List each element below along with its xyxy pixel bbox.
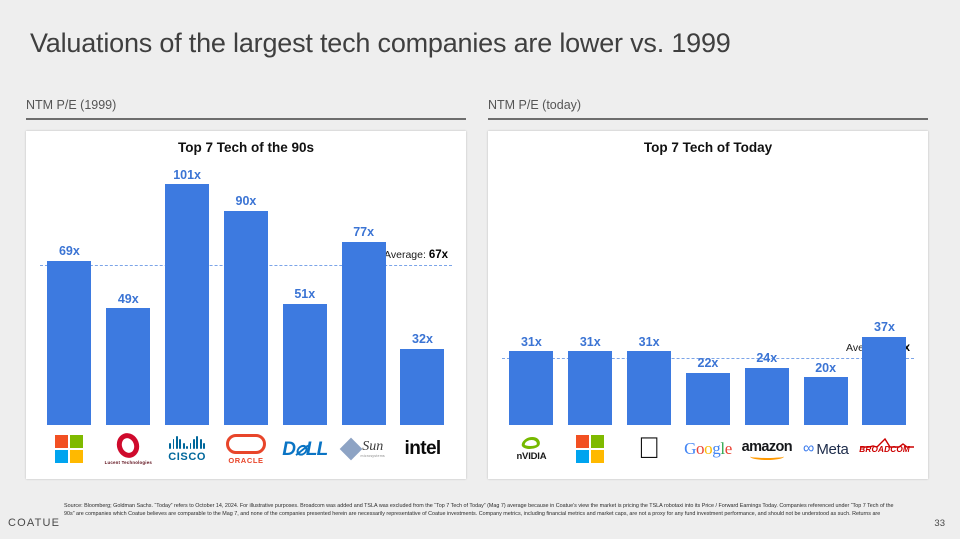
bar[interactable] xyxy=(686,373,730,425)
bar-value-label: 22x xyxy=(698,357,719,370)
bar[interactable] xyxy=(224,211,268,425)
nvidia-wordmark: nVIDIA xyxy=(516,451,546,462)
bar[interactable] xyxy=(804,377,848,425)
bar-value-label: 31x xyxy=(639,336,660,349)
coatue-brand: COATUE xyxy=(8,517,60,529)
google-letter: G xyxy=(684,439,696,458)
logo-strip-today: nVIDIA  Google xyxy=(502,427,914,471)
bar-value-label: 49x xyxy=(118,293,139,306)
bar[interactable] xyxy=(106,308,150,425)
bar-group-1999: 69x 49x 101x 90x xyxy=(40,163,452,425)
bar-slot-amazon[interactable]: 24x xyxy=(745,163,789,425)
bar[interactable] xyxy=(745,368,789,425)
bar-value-label: 31x xyxy=(580,336,601,349)
sun-subtext: microsystems xyxy=(361,454,385,458)
plot-area-today: Average: 28x 31x 31x 31x xyxy=(502,163,914,425)
amazon-logo: amazon xyxy=(737,429,796,469)
meta-logo: ∞ Meta xyxy=(796,429,855,469)
lucent-ring-icon xyxy=(114,430,143,461)
lucent-logo: Lucent Technologies xyxy=(99,429,158,469)
cisco-wordmark: CISCO xyxy=(168,451,206,463)
lucent-wordmark: Lucent Technologies xyxy=(105,460,152,465)
bar-slot-broadcom[interactable]: 37x xyxy=(862,163,906,425)
meta-wordmark: Meta xyxy=(816,441,848,458)
oracle-logo: ORACLE xyxy=(217,429,276,469)
chart-title-1999: Top 7 Tech of the 90s xyxy=(26,140,466,155)
bar-value-label: 31x xyxy=(521,336,542,349)
sun-diamond-icon xyxy=(339,438,362,461)
oracle-ring-icon xyxy=(226,434,266,454)
bar[interactable] xyxy=(342,242,386,425)
bar[interactable] xyxy=(47,261,91,425)
bar[interactable] xyxy=(862,337,906,425)
bar-value-label: 101x xyxy=(173,169,201,182)
intel-logo: intel xyxy=(393,429,452,469)
cisco-logo: CISCO xyxy=(158,429,217,469)
cisco-bridge-icon xyxy=(169,436,205,449)
google-logo: Google xyxy=(679,429,738,469)
footnote: Source: Bloomberg; Goldman Sachs. “Today… xyxy=(64,502,894,519)
page-title: Valuations of the largest tech companies… xyxy=(30,28,731,59)
amazon-smile-icon xyxy=(750,453,784,460)
bar[interactable] xyxy=(568,351,612,425)
panel-label-today: NTM P/E (today) xyxy=(488,98,928,118)
bar-slot-microsoft[interactable]: 69x xyxy=(47,163,91,425)
sun-logo: Sun microsystems xyxy=(334,429,393,469)
bar-value-label: 51x xyxy=(294,288,315,301)
bar-value-label: 20x xyxy=(815,362,836,375)
bar-slot-cisco[interactable]: 101x xyxy=(165,163,209,425)
bar-value-label: 90x xyxy=(236,195,257,208)
sun-wordmark: Sun xyxy=(362,440,383,454)
google-letter: e xyxy=(725,439,732,458)
bar[interactable] xyxy=(400,349,444,425)
oracle-wordmark: ORACLE xyxy=(228,456,263,465)
nvidia-eye-icon xyxy=(521,437,542,449)
bar[interactable] xyxy=(509,351,553,425)
apple-logo:  xyxy=(620,429,679,469)
bar-value-label: 32x xyxy=(412,333,433,346)
panel-today: NTM P/E (today) Top 7 Tech of Today Aver… xyxy=(488,98,928,479)
meta-infinity-icon: ∞ xyxy=(803,441,814,457)
dell-logo: D⌀LL xyxy=(275,429,334,469)
chart-card-1999: Top 7 Tech of the 90s Average: 67x 69x 4… xyxy=(26,131,466,479)
apple-glyph-icon:  xyxy=(638,434,661,464)
page-number: 33 xyxy=(934,518,945,529)
bar[interactable] xyxy=(165,184,209,425)
bar-slot-nvidia[interactable]: 31x xyxy=(509,163,553,425)
panel-divider xyxy=(26,118,466,120)
bar-slot-intel[interactable]: 32x xyxy=(400,163,444,425)
bar-slot-dell[interactable]: 51x xyxy=(283,163,327,425)
microsoft-logo xyxy=(561,429,620,469)
panel-divider xyxy=(488,118,928,120)
broadcom-wave-icon xyxy=(859,437,915,449)
bar-value-label: 37x xyxy=(874,321,895,334)
bar-slot-meta[interactable]: 20x xyxy=(804,163,848,425)
panel-label-1999: NTM P/E (1999) xyxy=(26,98,466,118)
bar[interactable] xyxy=(283,304,327,425)
bar-value-label: 77x xyxy=(353,226,374,239)
bar-value-label: 24x xyxy=(756,352,777,365)
plot-area-1999: Average: 67x 69x 49x 101x xyxy=(40,163,452,425)
bar-slot-lucent[interactable]: 49x xyxy=(106,163,150,425)
logo-strip-1999: Lucent Technologies CISCO xyxy=(40,427,452,471)
bar-slot-microsoft[interactable]: 31x xyxy=(568,163,612,425)
bar-slot-apple[interactable]: 31x xyxy=(627,163,671,425)
google-letter: o xyxy=(696,439,704,458)
chart-title-today: Top 7 Tech of Today xyxy=(488,140,928,155)
bar-value-label: 69x xyxy=(59,245,80,258)
broadcom-logo: BROADCOM xyxy=(855,429,914,469)
bar-group-today: 31x 31x 31x 22x xyxy=(502,163,914,425)
dell-wordmark: D⌀LL xyxy=(282,438,327,461)
bar[interactable] xyxy=(627,351,671,425)
slide: Valuations of the largest tech companies… xyxy=(0,0,960,539)
bar-slot-oracle[interactable]: 90x xyxy=(224,163,268,425)
nvidia-logo: nVIDIA xyxy=(502,429,561,469)
intel-wordmark: intel xyxy=(405,438,441,460)
bar-slot-google[interactable]: 22x xyxy=(686,163,730,425)
panel-1999: NTM P/E (1999) Top 7 Tech of the 90s Ave… xyxy=(26,98,466,479)
google-wordmark: Google xyxy=(684,439,732,459)
chart-card-today: Top 7 Tech of Today Average: 28x 31x 31x xyxy=(488,131,928,479)
bar-slot-sun[interactable]: 77x xyxy=(342,163,386,425)
microsoft-logo xyxy=(40,429,99,469)
